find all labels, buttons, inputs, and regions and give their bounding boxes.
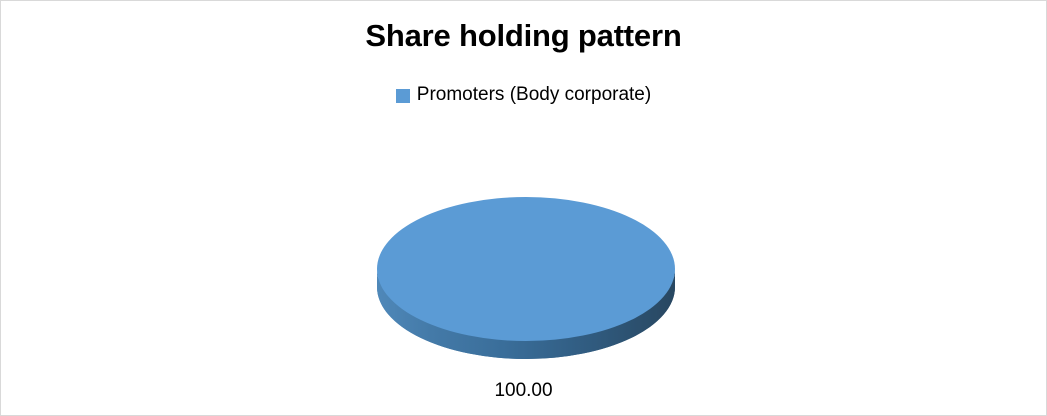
legend-item-label: Promoters (Body corporate)	[417, 85, 651, 104]
pie-slice-data-label: 100.00	[1, 381, 1046, 400]
pie-chart-svg	[375, 197, 677, 363]
pie-chart-graphic	[375, 197, 677, 363]
chart-title: Share holding pattern	[1, 19, 1046, 53]
legend-color-swatch-icon	[396, 89, 410, 103]
chart-legend: Promoters (Body corporate)	[1, 85, 1046, 104]
chart-container: Share holding pattern Promoters (Body co…	[0, 0, 1047, 416]
pie-slice-promoters	[377, 197, 675, 341]
